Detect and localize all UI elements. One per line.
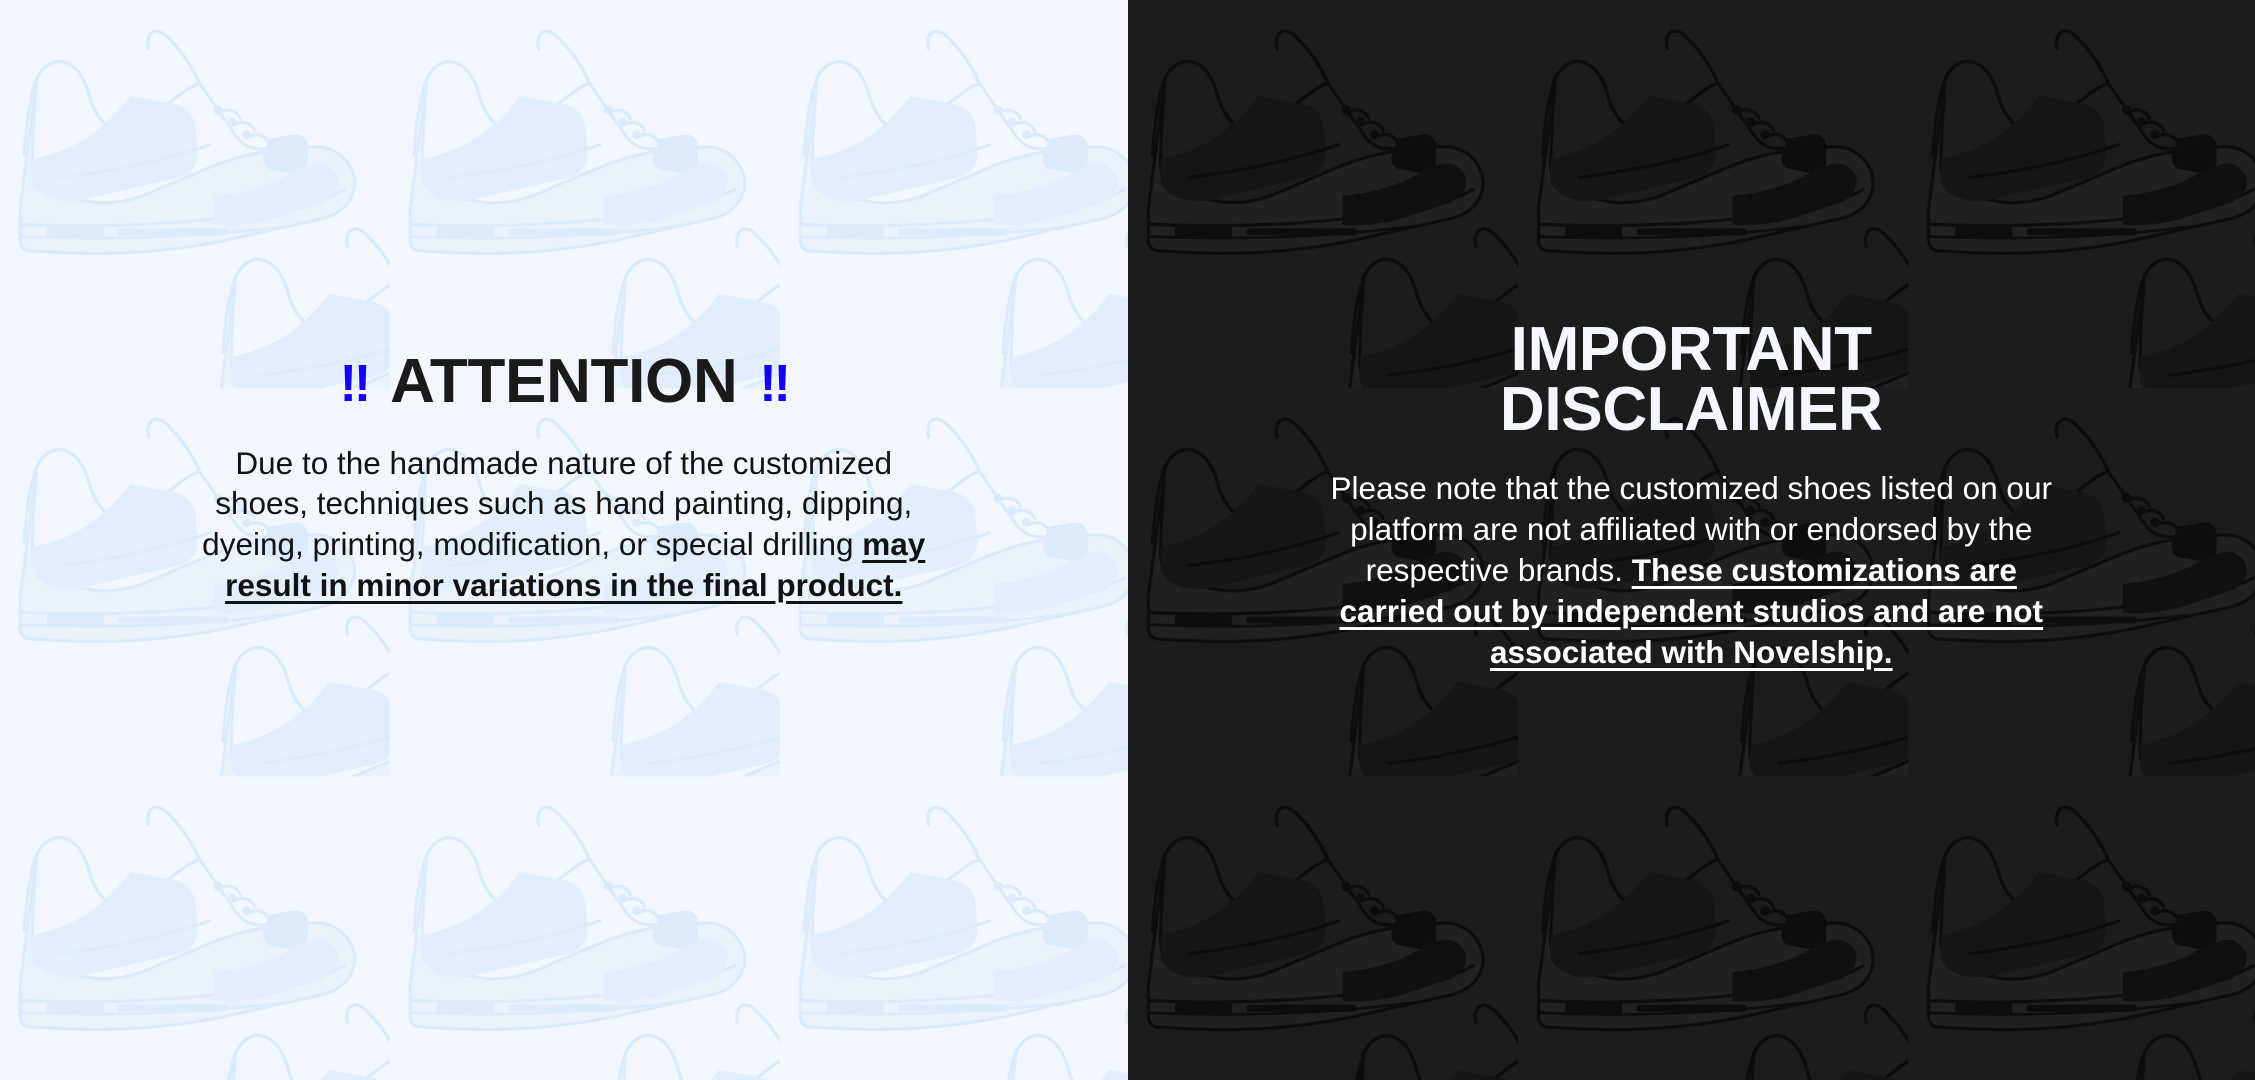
attention-content: !! ATTENTION !! Due to the handmade natu…	[0, 0, 1128, 606]
attention-heading: !! ATTENTION !!	[340, 352, 788, 412]
double-exclamation-icon-left: !!	[340, 358, 368, 410]
dual-panel-banner: !! ATTENTION !! Due to the handmade natu…	[0, 0, 2255, 1080]
disclaimer-content: IMPORTANT DISCLAIMER Please note that th…	[1128, 0, 2255, 673]
double-exclamation-icon-right: !!	[759, 358, 787, 410]
attention-panel: !! ATTENTION !! Due to the handmade natu…	[0, 0, 1128, 1080]
disclaimer-heading-line-2: DISCLAIMER	[1500, 375, 1883, 444]
attention-heading-text: ATTENTION	[390, 352, 737, 412]
disclaimer-heading: IMPORTANT DISCLAIMER	[1500, 320, 1883, 439]
attention-body: Due to the handmade nature of the custom…	[194, 443, 934, 607]
disclaimer-body: Please note that the customized shoes li…	[1311, 468, 2071, 673]
disclaimer-panel: IMPORTANT DISCLAIMER Please note that th…	[1128, 0, 2255, 1080]
attention-body-plain: Due to the handmade nature of the custom…	[202, 445, 912, 563]
